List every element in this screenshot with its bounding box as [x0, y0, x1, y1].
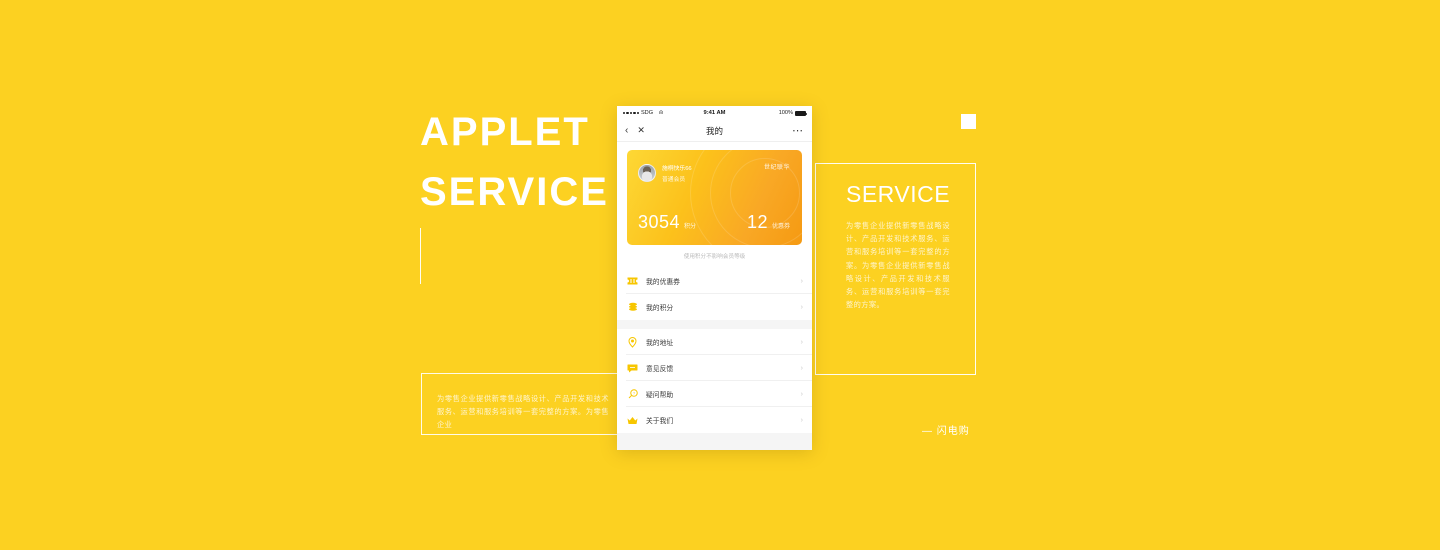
menu-item-feedback[interactable]: 意见反馈 › — [617, 355, 812, 381]
chevron-right-icon: › — [801, 304, 803, 311]
coupons-value: 12 — [747, 212, 768, 233]
page-title: APPLET SERVICE — [420, 102, 609, 222]
member-name-block: 施桐快乐66 普通会员 — [662, 163, 692, 183]
points-value: 3054 — [638, 212, 680, 233]
menu-group-divider — [617, 320, 812, 329]
location-pin-icon — [626, 337, 639, 348]
question-help-icon: ? — [626, 389, 639, 399]
member-username: 施桐快乐66 — [662, 163, 692, 172]
chevron-right-icon: › — [801, 278, 803, 285]
menu-item-my-coupons[interactable]: 我的优惠券 › — [617, 268, 812, 294]
status-bar: SDG ⍝ 9:41 AM 100% — [617, 106, 812, 120]
nav-title: 我的 — [617, 125, 812, 137]
menu-item-label: 我的优惠券 — [646, 276, 680, 286]
left-panel-body: 为零售企业提供新零售战略设计、产品开发和技术服务、运营和服务培训等一套完整的方案… — [437, 392, 609, 431]
points-stat[interactable]: 3054 积分 — [638, 212, 696, 233]
menu-item-label: 我的积分 — [646, 302, 673, 312]
menu-item-help[interactable]: ? 疑问帮助 › — [617, 381, 812, 407]
nav-bar: ‹ ✕ 我的 ⋯ — [617, 120, 812, 142]
decorative-square — [961, 114, 976, 129]
brand-signature: — 闪电购 — [922, 422, 970, 437]
chevron-right-icon: › — [801, 391, 803, 398]
service-panel-title: SERVICE — [846, 181, 950, 208]
comment-icon — [626, 364, 639, 373]
member-level: 普通会员 — [662, 174, 692, 183]
menu-item-my-address[interactable]: 我的地址 › — [617, 329, 812, 355]
menu-item-label: 关于我们 — [646, 415, 673, 425]
svg-text:?: ? — [632, 391, 635, 396]
list-footer-space — [617, 433, 812, 450]
menu-group-1: 我的优惠券 › 我的积分 › — [617, 268, 812, 320]
menu-item-label: 疑问帮助 — [646, 389, 673, 399]
coupons-stat[interactable]: 12 优惠券 — [747, 212, 790, 233]
card-note: 使用积分不影响会员等级 — [617, 245, 812, 268]
member-card-wrapper: 施桐快乐66 普通会员 世纪联华 3054 积分 12 优惠券 — [617, 142, 812, 245]
service-panel-body: 为零售企业提供新零售战略设计、产品开发和技术服务、运营和服务培训等一套完整的方案… — [846, 219, 950, 311]
hero-line-1: APPLET — [420, 102, 609, 162]
menu-item-about-us[interactable]: 关于我们 › — [617, 407, 812, 433]
points-label: 积分 — [684, 221, 696, 230]
hero-line-2: SERVICE — [420, 162, 609, 222]
menu-item-my-points[interactable]: 我的积分 › — [617, 294, 812, 320]
hero-accent-rule — [420, 228, 421, 284]
menu-item-label: 意见反馈 — [646, 363, 673, 373]
avatar[interactable] — [638, 164, 656, 182]
battery-full-icon — [795, 111, 806, 116]
ticket-icon — [626, 277, 639, 285]
coins-icon — [626, 302, 639, 312]
merchant-badge: 世纪联华 — [764, 162, 790, 171]
member-stats: 3054 积分 12 优惠券 — [638, 212, 790, 233]
member-identity: 施桐快乐66 普通会员 — [638, 163, 692, 183]
phone-mockup: SDG ⍝ 9:41 AM 100% ‹ ✕ 我的 ⋯ 施桐快乐66 普通会员 — [617, 106, 812, 450]
status-bar-time: 9:41 AM — [617, 110, 812, 116]
menu-item-label: 我的地址 — [646, 337, 673, 347]
chevron-right-icon: › — [801, 417, 803, 424]
chevron-right-icon: › — [801, 339, 803, 346]
chevron-right-icon: › — [801, 365, 803, 372]
menu-group-2: 我的地址 › 意见反馈 › ? 疑问帮助 › 关于我们 › — [617, 329, 812, 433]
member-card[interactable]: 施桐快乐66 普通会员 世纪联华 3054 积分 12 优惠券 — [627, 150, 802, 245]
coupons-label: 优惠券 — [772, 221, 790, 230]
crown-icon — [626, 416, 639, 425]
